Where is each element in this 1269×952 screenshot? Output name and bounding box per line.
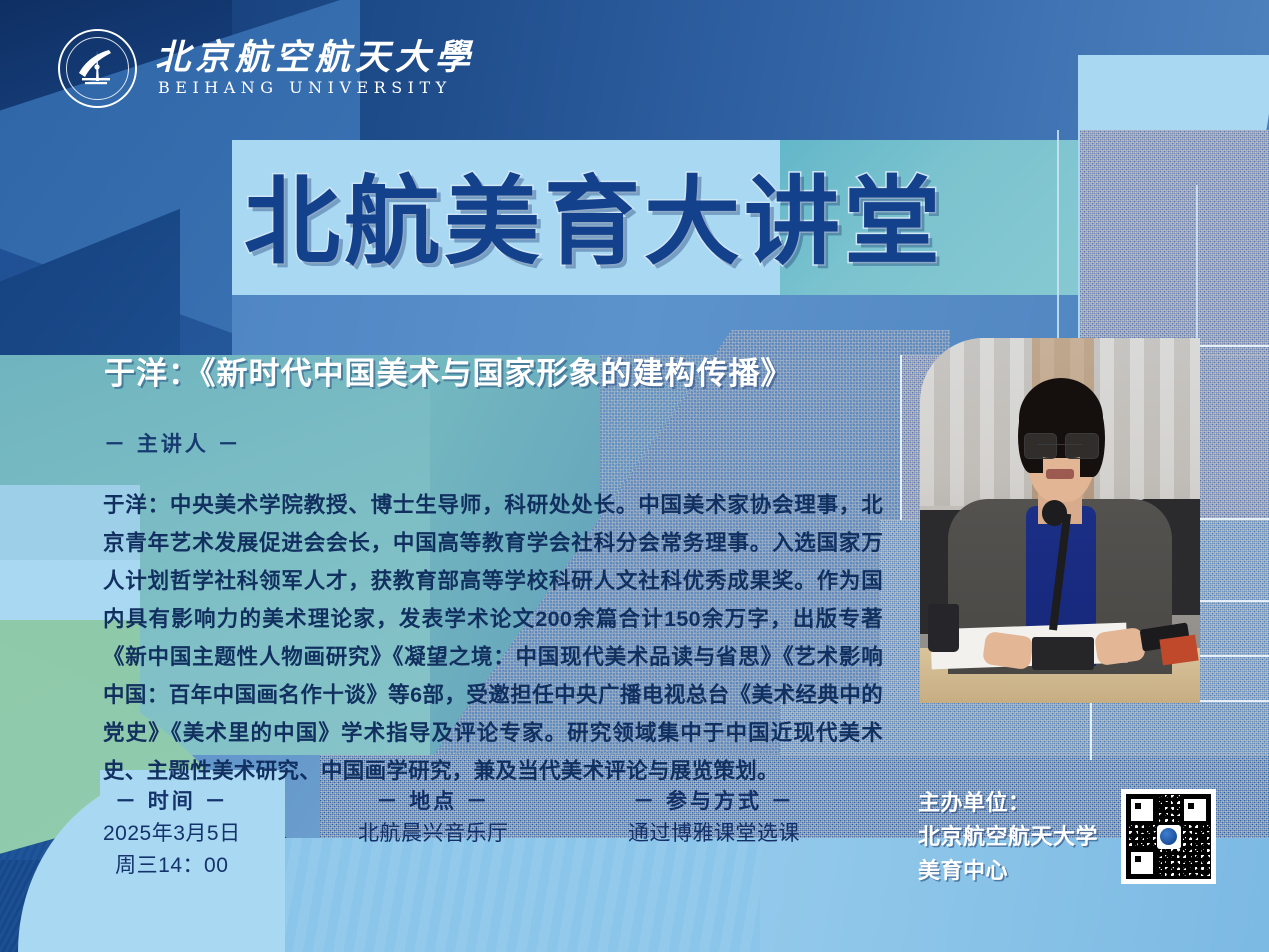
qr-finder-top-right <box>1180 795 1210 825</box>
photo-glasses-bridge <box>1038 444 1083 446</box>
university-name-en: BEIHANG UNIVERSITY <box>155 78 475 97</box>
join-method: 通过博雅课堂选课 <box>628 817 800 847</box>
photo-microphone-base <box>1032 637 1094 670</box>
logo-text-block: 北京航空航天大學 BEIHANG UNIVERSITY <box>155 40 475 98</box>
poster-root: 北京航空航天大學 BEIHANG UNIVERSITY 北航美育大讲堂 于洋：《… <box>0 0 1269 952</box>
place-heading: － 地点 － <box>376 785 490 815</box>
speaker-section-label: － 主讲人 － <box>104 428 242 458</box>
lecture-subtitle: 于洋：《新时代中国美术与国家形象的建构传播》 <box>104 348 793 393</box>
photo-microphone-head <box>1042 500 1067 526</box>
poster-content: 北京航空航天大學 BEIHANG UNIVERSITY 北航美育大讲堂 于洋：《… <box>0 0 1269 952</box>
organizer-line1: 北京航空航天大学 <box>918 820 1098 854</box>
time-weekday: 周三14：00 <box>115 849 228 879</box>
place-venue: 北航晨兴音乐厅 <box>358 817 509 847</box>
university-name-cn: 北京航空航天大學 <box>155 40 475 77</box>
photo-red-object <box>1159 635 1199 665</box>
speaker-biography: 于洋：中央美术学院教授、博士生导师，科研处处长。中国美术家协会理事，北京青年艺术… <box>103 486 883 790</box>
info-block-time: － 时间 － 2025年3月5日 周三14：00 <box>103 785 241 879</box>
qr-finder-bottom-left <box>1127 848 1157 878</box>
speaker-photo <box>920 338 1200 703</box>
info-block-join: － 参与方式 － 通过博雅课堂选课 <box>628 785 800 847</box>
beihang-circle-logo-icon <box>1157 825 1181 849</box>
photo-cup <box>928 604 959 651</box>
time-date: 2025年3月5日 <box>103 817 241 847</box>
time-heading: － 时间 － <box>115 785 229 815</box>
page-title: 北航美育大讲堂 <box>244 170 944 276</box>
organizer-line2: 美育中心 <box>918 854 1098 888</box>
qr-finder-top-left <box>1127 795 1157 825</box>
organizer-label: 主办单位： <box>918 786 1098 820</box>
info-block-place: － 地点 － 北航晨兴音乐厅 <box>358 785 509 847</box>
photo-hand-left <box>982 631 1034 670</box>
organizer-block: 主办单位： 北京航空航天大学 美育中心 <box>918 786 1098 888</box>
university-logo: 北京航空航天大學 BEIHANG UNIVERSITY <box>58 29 475 108</box>
photo-person-mouth <box>1046 469 1074 478</box>
join-heading: － 参与方式 － <box>633 785 795 815</box>
photo-hand-right <box>1094 627 1146 666</box>
qr-code-icon[interactable] <box>1121 789 1216 884</box>
beihang-university-seal-icon <box>58 29 137 108</box>
seal-emblem-icon <box>75 47 119 89</box>
qr-pattern <box>1126 794 1211 879</box>
